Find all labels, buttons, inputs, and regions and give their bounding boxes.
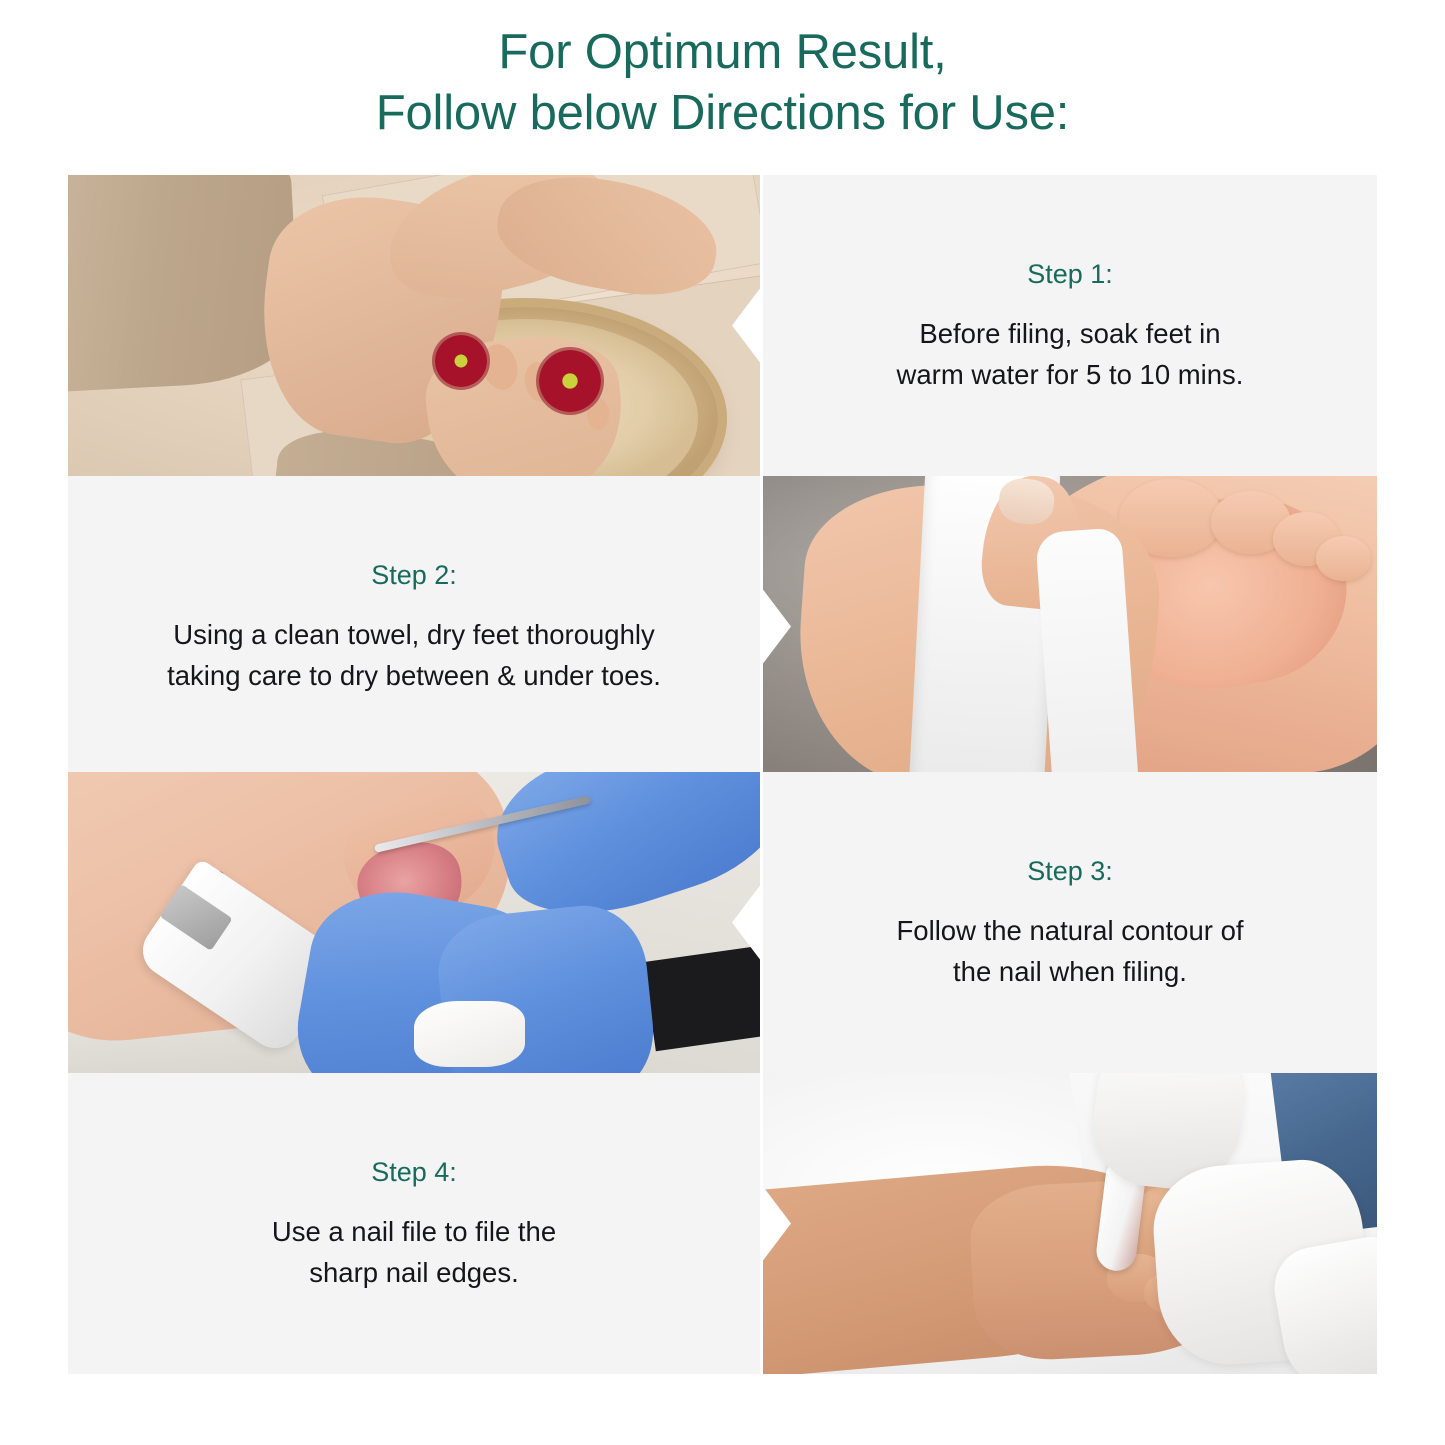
step-1-text-panel: Step 1: Before filing, soak feet in warm… [763,175,1377,476]
step-4-body: Use a nail file to file the sharp nail e… [272,1211,556,1293]
page-title: For Optimum Result, Follow below Directi… [0,22,1445,144]
step-3-body: Follow the natural contour of the nail w… [897,910,1244,992]
step-3-label: Step 3: [1027,854,1113,888]
step-1-image [68,175,760,476]
step-row-3: Step 3: Follow the natural contour of th… [68,772,1377,1073]
step-4-body-line-1: Use a nail file to file the [272,1211,556,1252]
step-1-body-line-1: Before filing, soak feet in [897,313,1244,354]
step-2-image [763,476,1377,777]
step-2-body: Using a clean towel, dry feet thoroughly… [167,614,661,696]
step-4-label: Step 4: [371,1155,457,1189]
step-3-image [68,772,760,1073]
foot-soak-photo [68,175,760,476]
step-1-body-line-2: warm water for 5 to 10 mins. [897,354,1244,395]
towel-drying-photo [763,476,1377,777]
nail-treatment-photo [68,772,760,1073]
page-title-line-2: Follow below Directions for Use: [0,83,1445,144]
step-2-label: Step 2: [371,558,457,592]
nail-filing-photo [763,1073,1377,1374]
step-4-text-panel: Step 4: Use a nail file to file the shar… [68,1073,760,1374]
step-2-body-line-1: Using a clean towel, dry feet thoroughly [167,614,661,655]
step-2-body-line-2: taking care to dry between & under toes. [167,655,661,696]
steps-grid: Step 1: Before filing, soak feet in warm… [68,175,1377,1375]
step-row-4: Step 4: Use a nail file to file the shar… [68,1073,1377,1374]
step-4-body-line-2: sharp nail edges. [272,1252,556,1293]
step-4-image [763,1073,1377,1374]
step-3-body-line-2: the nail when filing. [897,951,1244,992]
step-row-1: Step 1: Before filing, soak feet in warm… [68,175,1377,476]
step-row-2: Step 2: Using a clean towel, dry feet th… [68,476,1377,777]
step-3-text-panel: Step 3: Follow the natural contour of th… [763,772,1377,1073]
page-title-line-1: For Optimum Result, [0,22,1445,83]
instruction-infographic: For Optimum Result, Follow below Directi… [0,0,1445,1445]
step-2-text-panel: Step 2: Using a clean towel, dry feet th… [68,476,760,777]
step-1-body: Before filing, soak feet in warm water f… [897,313,1244,395]
step-1-label: Step 1: [1027,257,1113,291]
step-3-body-line-1: Follow the natural contour of [897,910,1244,951]
